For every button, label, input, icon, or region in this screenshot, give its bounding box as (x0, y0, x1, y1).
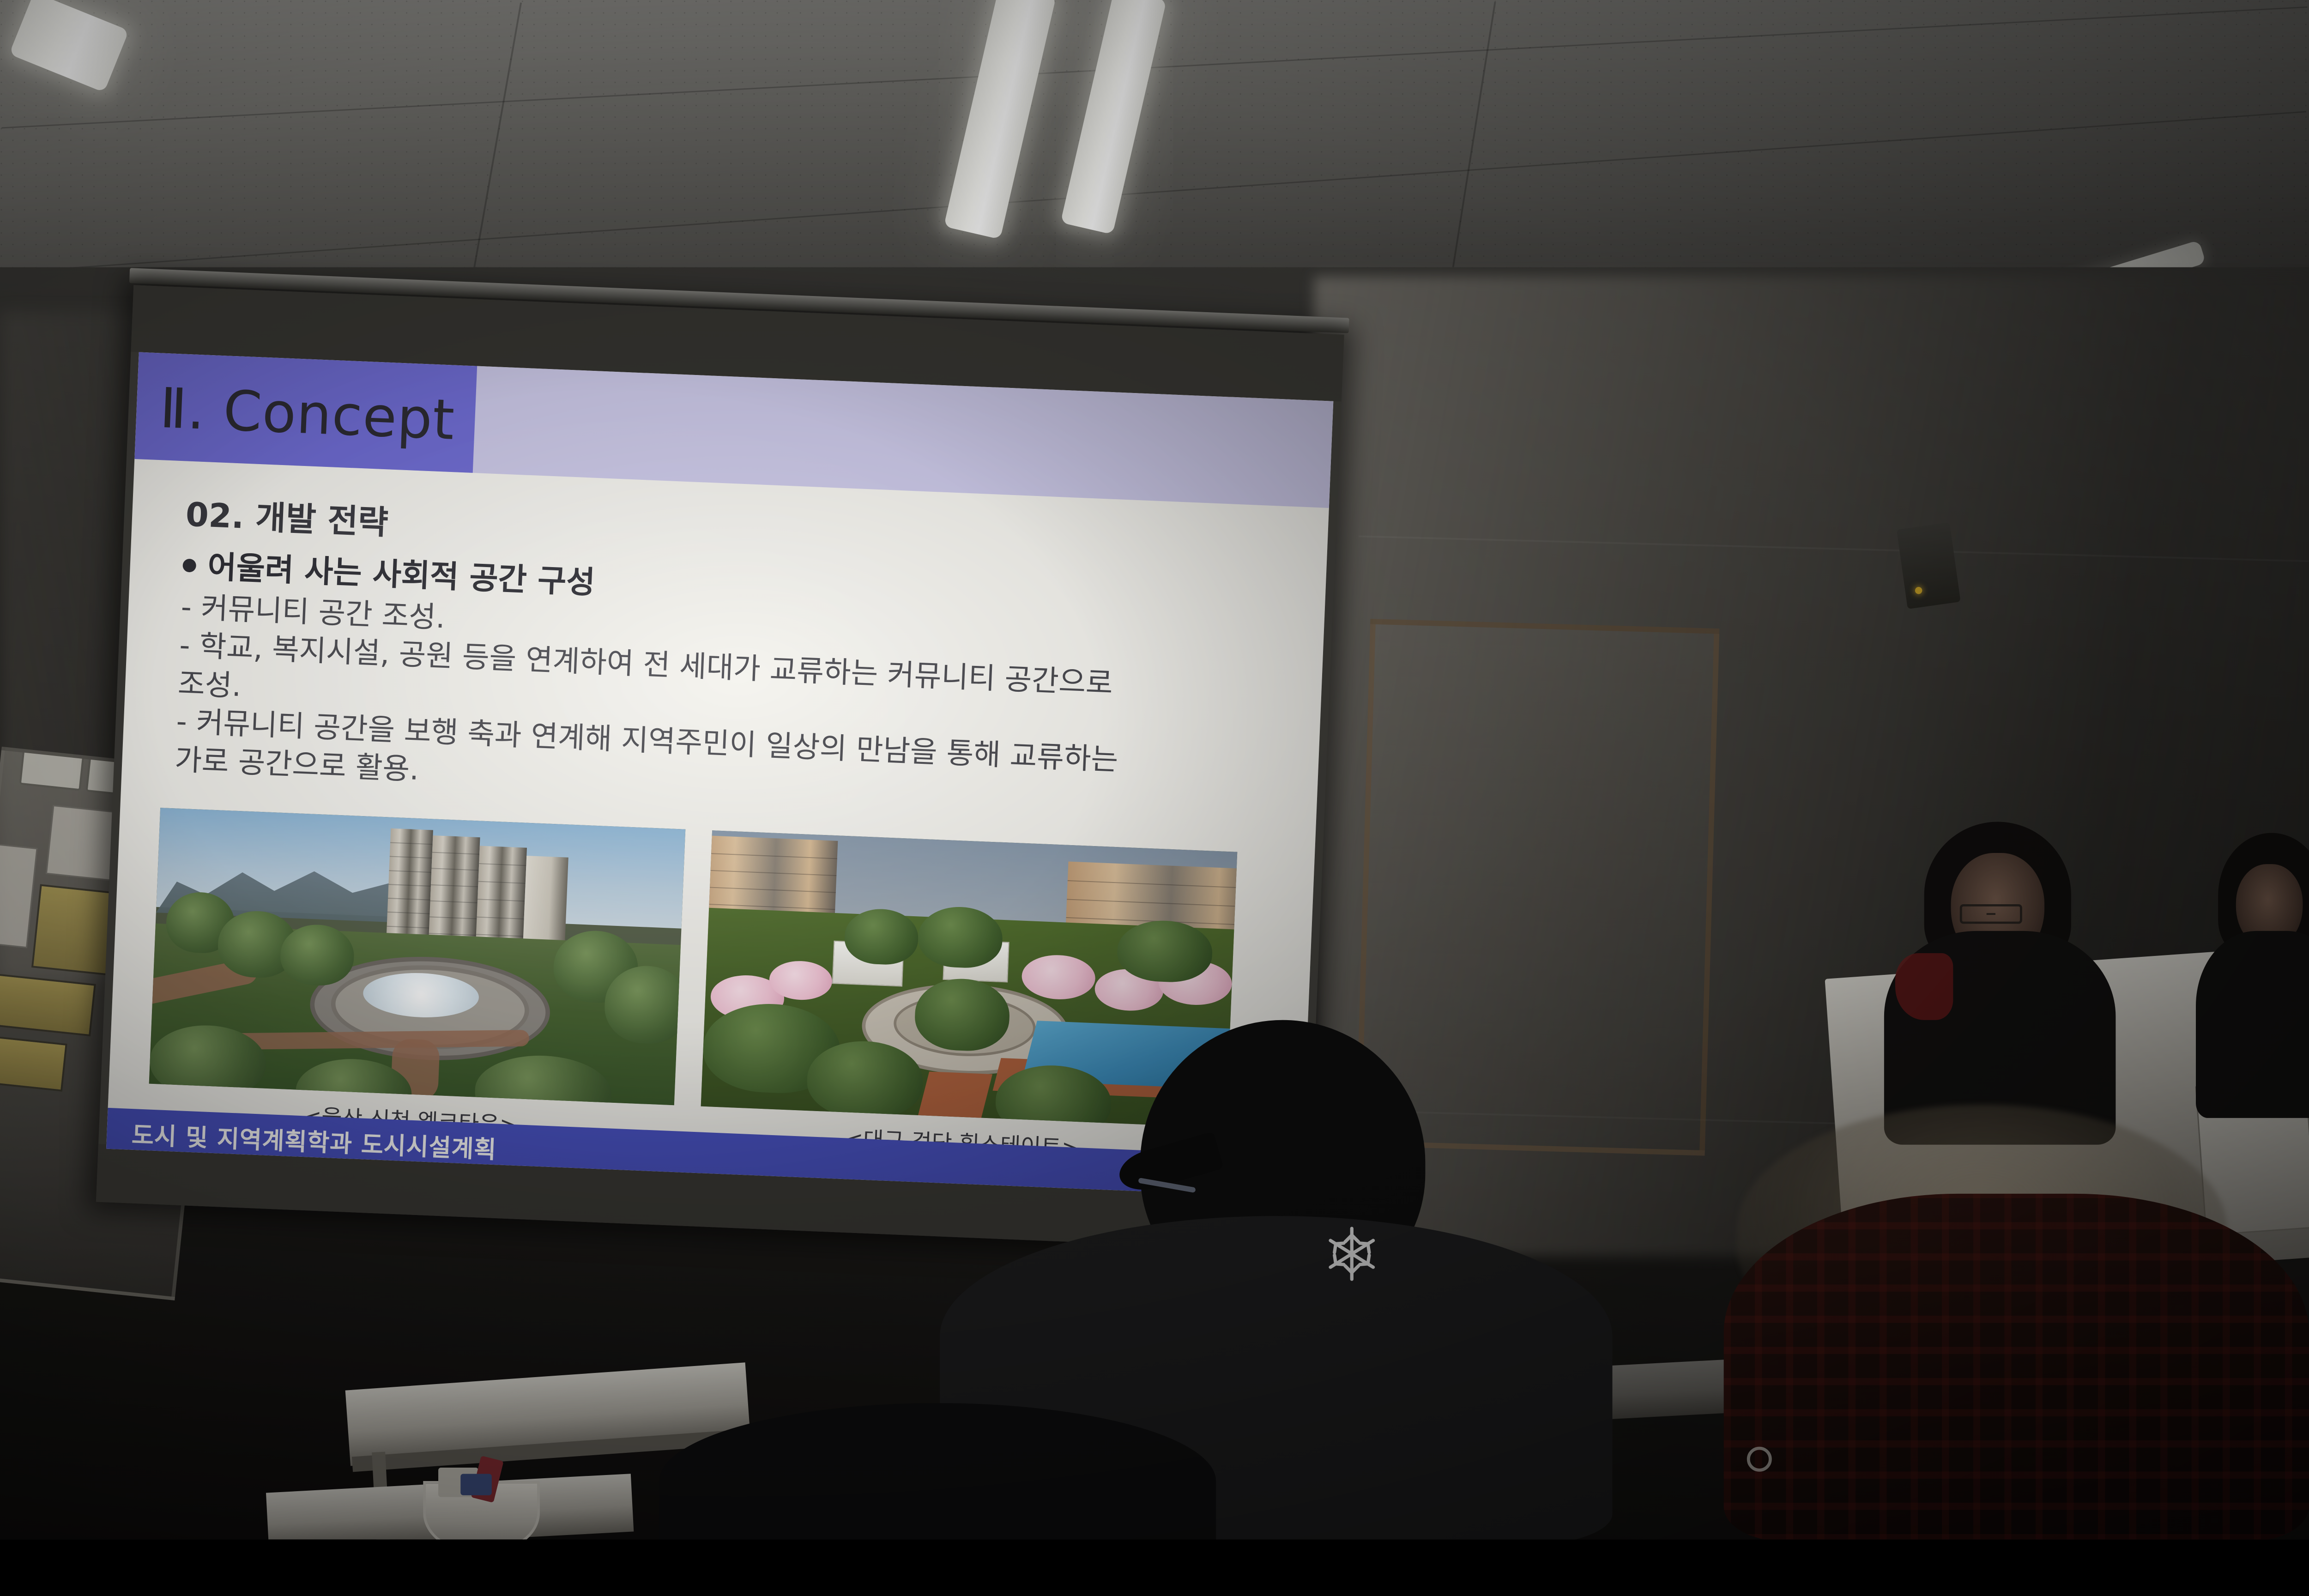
whiteboard-panel (1356, 619, 1720, 1156)
slide-photo-row (149, 808, 1277, 1130)
notice-panel-yellow (0, 973, 96, 1036)
notice-board-label (19, 750, 84, 791)
bullet-dot-icon (182, 559, 196, 573)
presentation-slide: Ⅱ. Concept 02. 개발 전략 어울려 사는 사회적 공간 구성 - … (106, 352, 1333, 1198)
photo-apartment-tower (386, 828, 433, 946)
snowflake-logo-icon (1318, 1221, 1385, 1288)
slide-subtitle: 02. 개발 전략 (185, 488, 389, 544)
lecture-hall-scene: Ⅱ. Concept 02. 개발 전략 어울려 사는 사회적 공간 구성 - … (0, 0, 2309, 1539)
slide-photo-left (149, 808, 686, 1105)
parka-body (1724, 1194, 2309, 1539)
wall-speaker (1897, 522, 1961, 609)
bowl-item (460, 1474, 492, 1495)
notice-panel-yellow (0, 1033, 67, 1092)
bowl (423, 1481, 540, 1539)
speaker-indicator-led (1915, 586, 1922, 594)
notice-sheet (0, 842, 38, 948)
photo-walkway (915, 1071, 992, 1128)
slide-title: Ⅱ. Concept (158, 376, 456, 453)
parka-plaid-pattern (1724, 1194, 2309, 1539)
parka-eyelet (1747, 1447, 1772, 1472)
slide-body: 어울려 사는 사회적 공간 구성 - 커뮤니티 공간 조성. - 학교, 복지시… (174, 546, 1287, 824)
presenter-glasses (1960, 904, 2022, 924)
assistant-torso (2196, 931, 2309, 1118)
presenter-scarf (1895, 953, 1953, 1020)
slide-photo-right (701, 830, 1238, 1128)
